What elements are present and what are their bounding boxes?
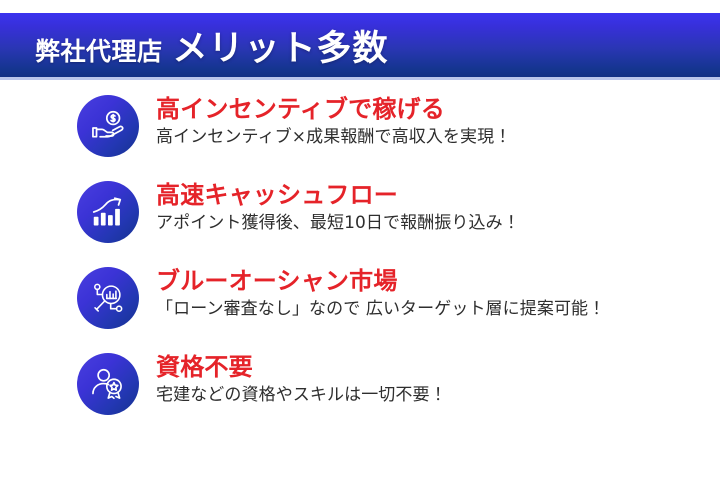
hand-holding-dollar-icon <box>89 107 127 145</box>
benefit-texts: 高インセンティブで稼げる 高インセンティブ×成果報酬で高収入を実現！ <box>156 93 511 150</box>
benefit-subtitle: 宅建などの資格やスキルは一切不要！ <box>156 382 447 408</box>
header-underline-divider <box>0 77 720 80</box>
growth-bar-chart-arrow-icon <box>89 193 127 231</box>
header-prefix-text: 弊社代理店 <box>35 32 163 68</box>
person-award-ribbon-icon <box>89 365 127 403</box>
header-main-text: メリット多数 <box>173 20 389 71</box>
benefit-item: 資格不要 宅建などの資格やスキルは一切不要！ <box>0 351 720 437</box>
benefit-texts: 高速キャッシュフロー アポイント獲得後、最短10日で報酬振り込み！ <box>156 179 520 236</box>
benefit-icon-badge <box>77 181 139 243</box>
slide-root: 弊社代理店 メリット多数 高インセン <box>0 0 720 480</box>
benefit-texts: ブルーオーシャン市場 「ローン審査なし」なので 広いターゲット層に提案可能！ <box>156 265 605 322</box>
header-banner: 弊社代理店 メリット多数 <box>0 13 720 77</box>
benefit-title: 高速キャッシュフロー <box>156 180 520 210</box>
benefit-subtitle: 「ローン審査なし」なので 広いターゲット層に提案可能！ <box>156 296 605 322</box>
magnifier-market-analysis-icon <box>89 279 127 317</box>
benefit-title: 資格不要 <box>156 352 447 382</box>
benefit-icon-badge <box>77 267 139 329</box>
benefit-icon-badge <box>77 353 139 415</box>
header-title-group: 弊社代理店 メリット多数 <box>0 20 389 71</box>
benefit-texts: 資格不要 宅建などの資格やスキルは一切不要！ <box>156 351 447 408</box>
benefit-item: 高速キャッシュフロー アポイント獲得後、最短10日で報酬振り込み！ <box>0 179 720 265</box>
benefit-list: 高インセンティブで稼げる 高インセンティブ×成果報酬で高収入を実現！ <box>0 93 720 437</box>
benefit-title: ブルーオーシャン市場 <box>156 266 605 296</box>
benefit-item: 高インセンティブで稼げる 高インセンティブ×成果報酬で高収入を実現！ <box>0 93 720 179</box>
benefit-subtitle: 高インセンティブ×成果報酬で高収入を実現！ <box>156 124 511 150</box>
benefit-subtitle: アポイント獲得後、最短10日で報酬振り込み！ <box>156 210 520 236</box>
benefit-icon-badge <box>77 95 139 157</box>
benefit-item: ブルーオーシャン市場 「ローン審査なし」なので 広いターゲット層に提案可能！ <box>0 265 720 351</box>
benefit-title: 高インセンティブで稼げる <box>156 94 511 124</box>
